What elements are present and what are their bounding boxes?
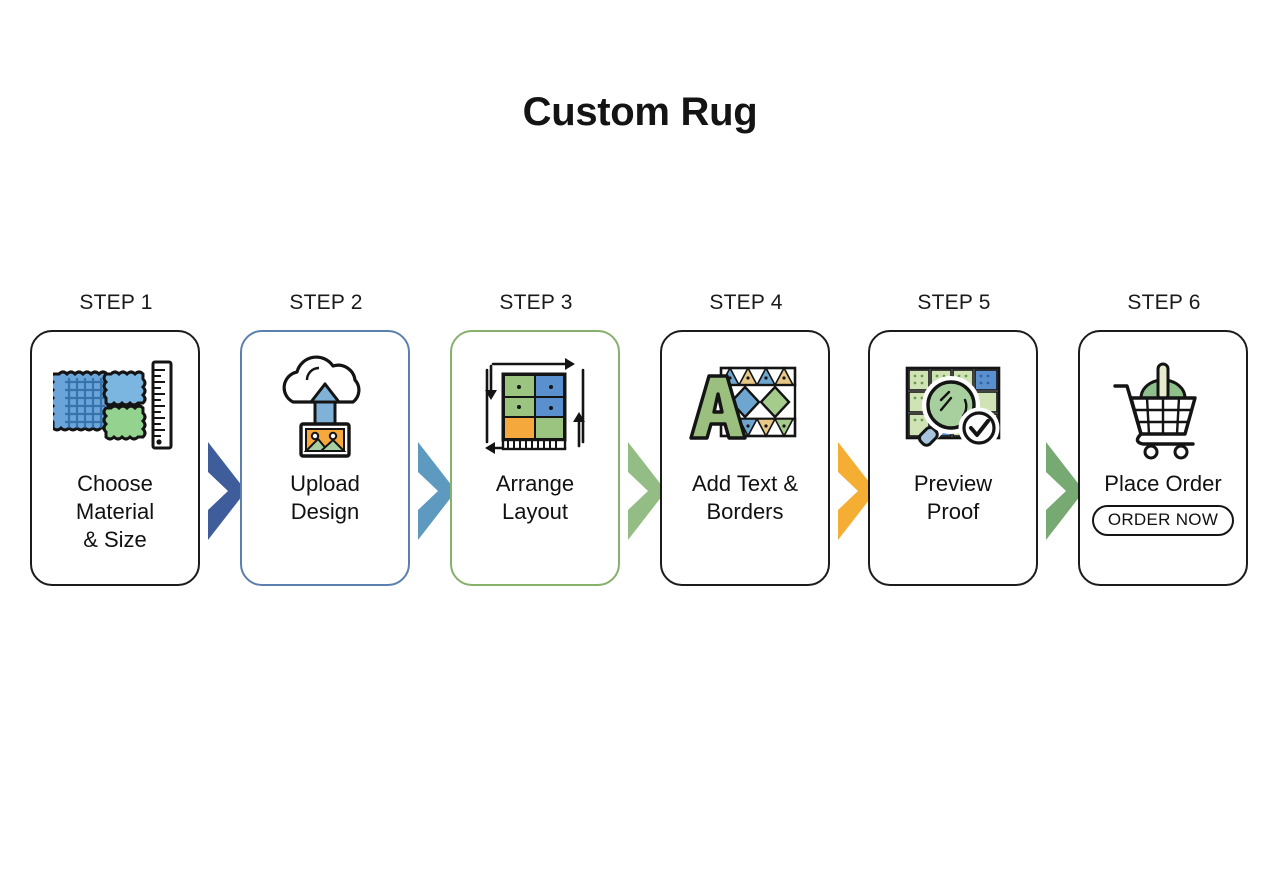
step-label-6: STEP 6 <box>1078 288 1250 318</box>
step-label-3: STEP 3 <box>450 288 622 318</box>
cloud-upload-image-icon <box>263 346 387 464</box>
process-flow: STEP 1 <box>30 288 1255 598</box>
step-card-2[interactable]: STEP 2 Upload Desig <box>240 288 412 598</box>
step-caption-line: Borders <box>692 498 798 526</box>
step-label-4: STEP 4 <box>660 288 832 318</box>
step-caption-line: Preview <box>914 470 992 498</box>
step-caption-line: Layout <box>496 498 574 526</box>
step-card-body-4[interactable]: Add Text & Borders <box>660 330 830 586</box>
step-caption-3: Arrange Layout <box>490 470 580 526</box>
step-caption-line: Place Order <box>1104 470 1221 498</box>
step-caption-line: & Size <box>76 526 154 554</box>
step-card-body-1[interactable]: Choose Material & Size <box>30 330 200 586</box>
step-card-3[interactable]: STEP 3 <box>450 288 622 598</box>
page-title: Custom Rug <box>0 90 1280 135</box>
step-caption-line: Arrange <box>496 470 574 498</box>
step-caption-line: Design <box>290 498 360 526</box>
step-caption-6: Place Order <box>1098 470 1227 498</box>
step-card-body-3[interactable]: Arrange Layout <box>450 330 620 586</box>
step-caption-line: Choose <box>76 470 154 498</box>
step-card-body-6[interactable]: Place Order ORDER NOW <box>1078 330 1248 586</box>
step-caption-5: Preview Proof <box>908 470 998 526</box>
magnifier-check-rug-icon <box>891 346 1015 464</box>
step-card-body-2[interactable]: Upload Design <box>240 330 410 586</box>
step-card-6[interactable]: STEP 6 <box>1078 288 1250 598</box>
step-caption-2: Upload Design <box>284 470 366 526</box>
step-caption-line: Upload <box>290 470 360 498</box>
rug-grid-rotate-icon <box>473 346 597 464</box>
step-caption-4: Add Text & Borders <box>686 470 804 526</box>
step-label-2: STEP 2 <box>240 288 412 318</box>
shopping-cart-rug-icon <box>1101 346 1225 464</box>
step-label-5: STEP 5 <box>868 288 1040 318</box>
step-card-1[interactable]: STEP 1 <box>30 288 202 598</box>
step-card-4[interactable]: STEP 4 <box>660 288 832 598</box>
step-card-5[interactable]: STEP 5 <box>868 288 1040 598</box>
step-caption-line: Material <box>76 498 154 526</box>
step-label-1: STEP 1 <box>30 288 202 318</box>
letter-a-border-pattern-icon <box>683 346 807 464</box>
fabric-swatches-ruler-icon <box>53 346 177 464</box>
step-caption-line: Proof <box>914 498 992 526</box>
step-card-body-5[interactable]: Preview Proof <box>868 330 1038 586</box>
order-now-button[interactable]: ORDER NOW <box>1092 505 1234 536</box>
step-caption-1: Choose Material & Size <box>70 470 160 554</box>
step-caption-line: Add Text & <box>692 470 798 498</box>
